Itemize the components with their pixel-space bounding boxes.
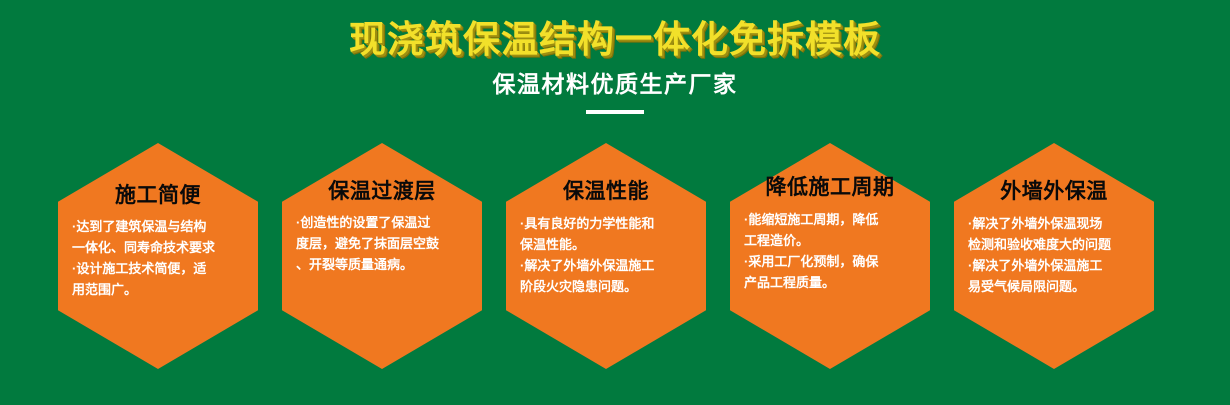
feature-card-line: 度层，避免了抹面层空鼓 [296,233,468,254]
feature-card-line: ·达到了建筑保温与结构 [72,216,244,237]
feature-card-line: 阶段火灾隐患问题。 [520,276,692,297]
feature-card-line: 工程造价。 [744,230,916,251]
feature-hexagon-card[interactable]: 外墙外保温·解决了外墙外保温现场检测和验收难度大的问题·解决了外墙外保温施工易受… [954,143,1154,369]
feature-card-line: 检测和验收难度大的问题 [968,234,1140,255]
feature-card-line: 、开裂等质量通病。 [296,254,468,275]
feature-card-body: ·具有良好的力学性能和保温性能。·解决了外墙外保温施工阶段火灾隐患问题。 [520,204,692,297]
feature-card-title: 保温过渡层 [328,143,436,204]
feature-card-title: 保温性能 [563,143,649,204]
feature-card-line: 易受气候局限问题。 [968,276,1140,297]
feature-card-line: ·具有良好的力学性能和 [520,213,692,234]
feature-hexagon-card[interactable]: 保温性能·具有良好的力学性能和保温性能。·解决了外墙外保温施工阶段火灾隐患问题。 [506,143,706,369]
feature-card-line: ·创造性的设置了保温过 [296,212,468,233]
promo-banner: 现浇筑保温结构一体化免拆模板 保温材料优质生产厂家 施工简便·达到了建筑保温与结… [0,0,1230,405]
feature-card-title: 施工简便 [115,143,201,208]
feature-card-body: ·创造性的设置了保温过度层，避免了抹面层空鼓、开裂等质量通病。 [296,204,468,275]
feature-card-body: ·能缩短施工周期，降低工程造价。·采用工厂化预制，确保产品工程质量。 [744,200,916,293]
feature-card-line: 产品工程质量。 [744,272,916,293]
feature-card-body: ·解决了外墙外保温现场检测和验收难度大的问题·解决了外墙外保温施工易受气候局限问… [968,204,1140,297]
feature-card-content: 保温性能·具有良好的力学性能和保温性能。·解决了外墙外保温施工阶段火灾隐患问题。 [506,143,706,369]
feature-card-line: 一体化、同寿命技术要求 [72,237,244,258]
feature-card-line: ·采用工厂化预制，确保 [744,251,916,272]
feature-card-title: 外墙外保温 [1000,143,1108,204]
feature-hexagon-card[interactable]: 保温过渡层·创造性的设置了保温过度层，避免了抹面层空鼓、开裂等质量通病。 [282,143,482,369]
feature-card-line: ·解决了外墙外保温现场 [968,213,1140,234]
feature-hexagon-card[interactable]: 降低施工周期·能缩短施工周期，降低工程造价。·采用工厂化预制，确保产品工程质量。 [730,143,930,369]
feature-card-content: 外墙外保温·解决了外墙外保温现场检测和验收难度大的问题·解决了外墙外保温施工易受… [954,143,1154,369]
feature-card-line: ·解决了外墙外保温施工 [968,255,1140,276]
feature-card-content: 施工简便·达到了建筑保温与结构一体化、同寿命技术要求·设计施工技术简便，适用范围… [58,143,258,369]
title-divider [586,110,644,114]
feature-card-content: 降低施工周期·能缩短施工周期，降低工程造价。·采用工厂化预制，确保产品工程质量。 [730,143,930,369]
banner-header: 现浇筑保温结构一体化免拆模板 保温材料优质生产厂家 [0,0,1230,114]
feature-card-title: 降低施工周期 [766,143,895,200]
feature-card-body: ·达到了建筑保温与结构一体化、同寿命技术要求·设计施工技术简便，适用范围广。 [72,208,244,300]
feature-card-line: ·能缩短施工周期，降低 [744,209,916,230]
page-title: 现浇筑保温结构一体化免拆模板 [0,0,1230,62]
feature-card-line: ·解决了外墙外保温施工 [520,255,692,276]
feature-card-line: ·设计施工技术简便，适 [72,258,244,279]
feature-hexagon-card[interactable]: 施工简便·达到了建筑保温与结构一体化、同寿命技术要求·设计施工技术简便，适用范围… [58,143,258,369]
feature-hexagon-row: 施工简便·达到了建筑保温与结构一体化、同寿命技术要求·设计施工技术简便，适用范围… [0,143,1230,369]
page-subtitle: 保温材料优质生产厂家 [0,62,1230,99]
feature-card-content: 保温过渡层·创造性的设置了保温过度层，避免了抹面层空鼓、开裂等质量通病。 [282,143,482,369]
feature-card-line: 保温性能。 [520,234,692,255]
feature-card-line: 用范围广。 [72,279,244,300]
